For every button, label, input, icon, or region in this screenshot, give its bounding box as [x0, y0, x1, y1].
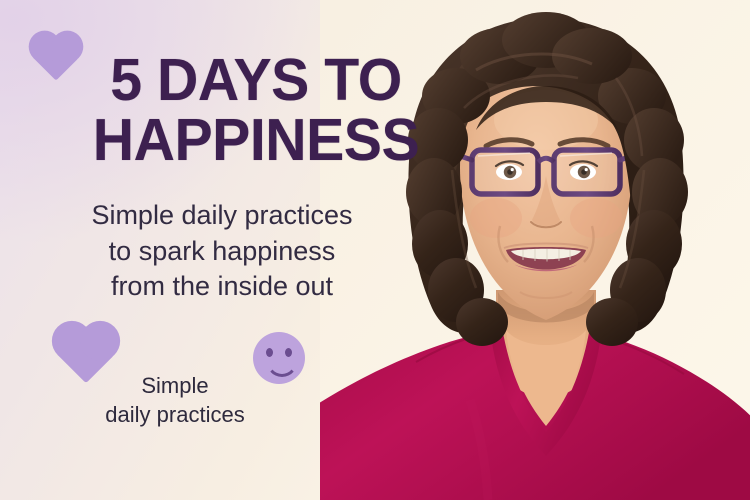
subtitle: Simple daily practices to spark happines… [52, 198, 392, 305]
subtitle-line-1: Simple daily practices [52, 198, 392, 234]
subtitle-line-3: from the inside out [52, 269, 392, 305]
subtitle-line-2: to spark happiness [52, 234, 392, 270]
headline-line-2: HAPPINESS [62, 112, 450, 170]
tagline: Simple daily practices [60, 372, 290, 429]
promo-banner: 5 DAYS TO HAPPINESS Simple daily practic… [0, 0, 750, 500]
page-title: 5 DAYS TO HAPPINESS [62, 52, 450, 170]
headline-line-1: 5 DAYS TO [62, 52, 450, 110]
tagline-line-2: daily practices [60, 401, 290, 430]
tagline-line-1: Simple [60, 372, 290, 401]
